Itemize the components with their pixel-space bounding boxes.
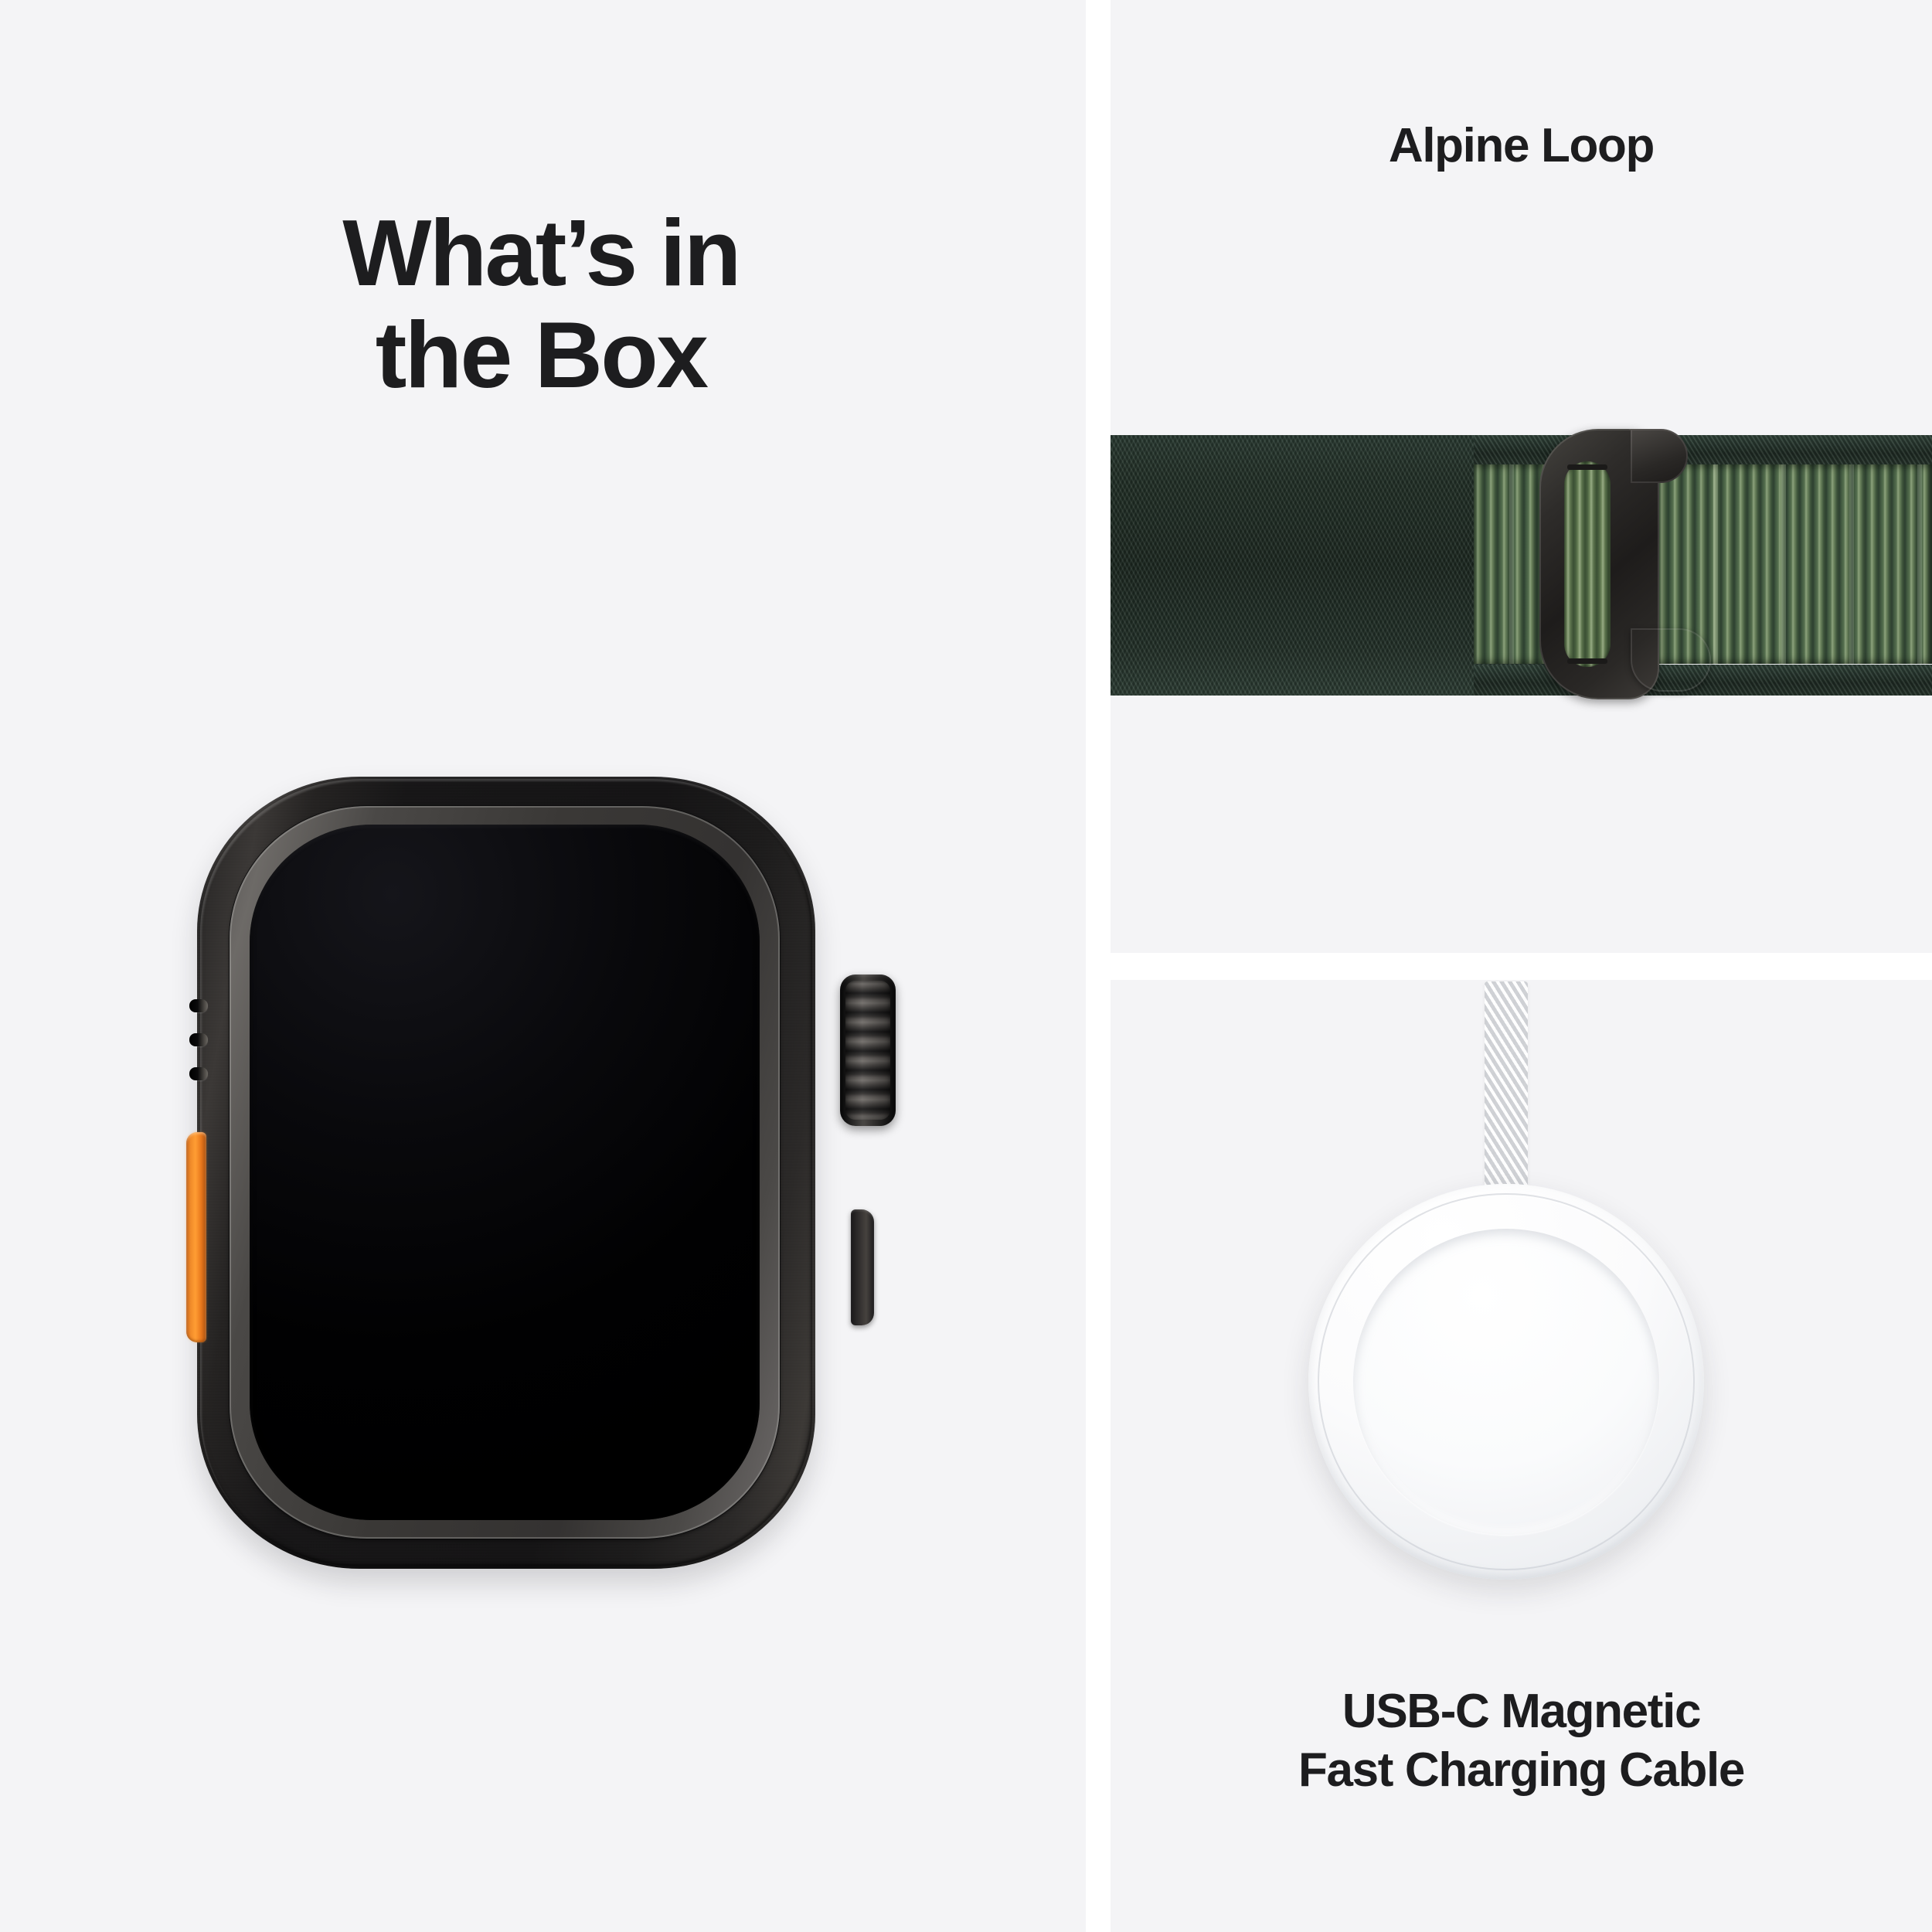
charging-cable-label-line-2: Fast Charging Cable bbox=[1111, 1741, 1932, 1800]
digital-crown[interactable] bbox=[840, 975, 896, 1126]
product-gallery: What’s in the Box Alpine Loop bbox=[0, 0, 1932, 1932]
buckle-slot bbox=[1564, 461, 1611, 667]
page-title: What’s in the Box bbox=[193, 202, 889, 406]
alpine-loop-band-image bbox=[1111, 435, 1932, 696]
watch-panel: What’s in the Box bbox=[0, 0, 1086, 1932]
speaker-grille-icon bbox=[188, 999, 209, 1090]
charging-cable-label: USB-C Magnetic Fast Charging Cable bbox=[1111, 1682, 1932, 1799]
alpine-loop-label: Alpine Loop bbox=[1111, 120, 1932, 172]
page-title-line-2: the Box bbox=[193, 304, 889, 406]
side-button[interactable] bbox=[851, 1209, 874, 1325]
charging-puck bbox=[1308, 1184, 1704, 1580]
charging-cable-label-line-1: USB-C Magnetic bbox=[1111, 1682, 1932, 1741]
apple-watch-ultra-image bbox=[189, 777, 862, 1569]
speaker-slot bbox=[189, 1033, 208, 1046]
g-hook-buckle bbox=[1539, 429, 1711, 699]
speaker-slot bbox=[189, 999, 208, 1012]
buckle-arm bbox=[1631, 429, 1688, 483]
page-title-line-1: What’s in bbox=[193, 202, 889, 304]
braided-cable bbox=[1485, 981, 1528, 1213]
action-button[interactable] bbox=[186, 1132, 206, 1342]
buckle-hook bbox=[1631, 628, 1711, 692]
charging-puck-disc bbox=[1353, 1229, 1659, 1535]
usb-c-magnetic-charger-image bbox=[1111, 981, 1932, 1592]
watch-screen[interactable] bbox=[250, 825, 760, 1520]
speaker-slot bbox=[189, 1067, 208, 1080]
